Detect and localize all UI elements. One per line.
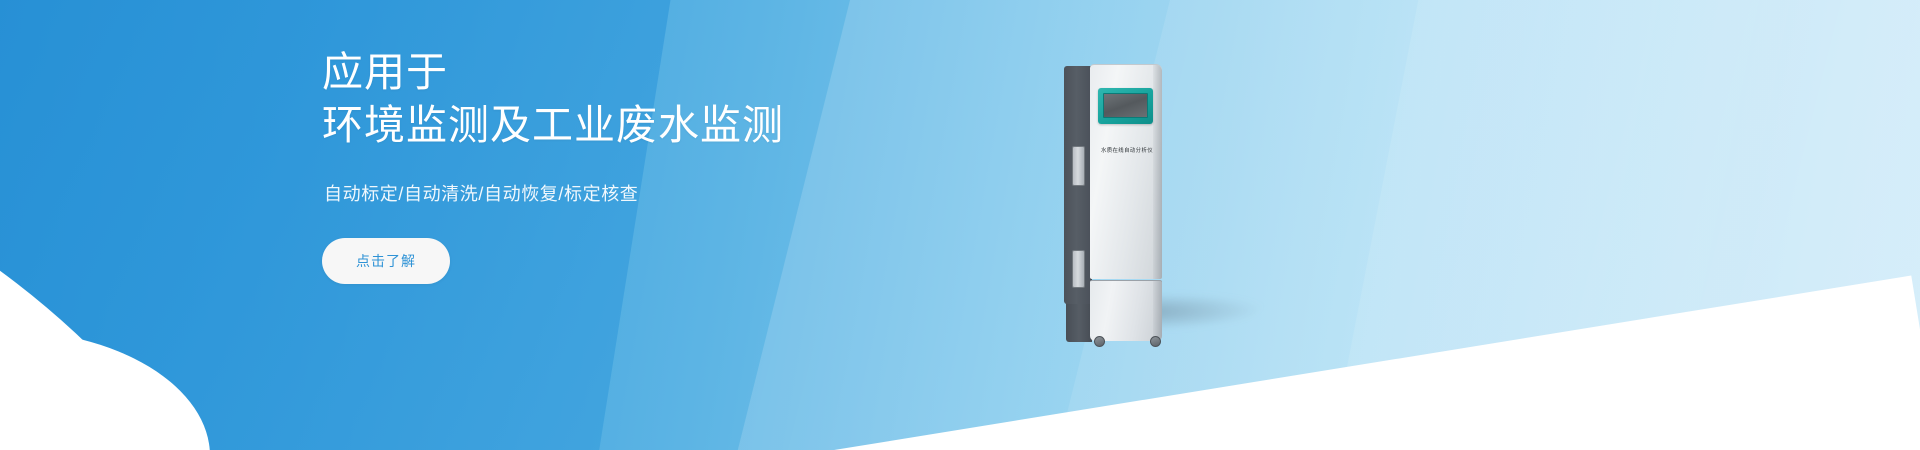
page-title: 应用于 环境监测及工业废水监测 — [322, 46, 1082, 152]
device-base-foot — [1066, 302, 1092, 342]
device-upper-handle — [1072, 146, 1085, 186]
device-display-screen — [1103, 93, 1148, 118]
promo-banner: 应用于 环境监测及工业废水监测 自动标定/自动清洗/自动恢复/标定核查 点击了解… — [0, 0, 1920, 450]
banner-content: 应用于 环境监测及工业废水监测 自动标定/自动清洗/自动恢复/标定核查 点击了解 — [322, 46, 1082, 284]
banner-subtitle: 自动标定/自动清洗/自动恢复/标定核查 — [324, 180, 1082, 206]
device-lower-handle — [1072, 250, 1085, 288]
product-image-water-analyzer: 水质在线自动分析仪 — [1052, 62, 1252, 332]
learn-more-button[interactable]: 点击了解 — [322, 238, 450, 284]
device-screen-bezel — [1098, 88, 1153, 124]
headline-line-1: 应用于 — [322, 49, 448, 95]
device-lower-cabinet — [1090, 280, 1162, 341]
headline-line-2: 环境监测及工业废水监测 — [322, 99, 1082, 152]
device-caster-right — [1150, 336, 1161, 347]
device-caster-left — [1094, 336, 1105, 347]
device-label-text: 水质在线自动分析仪 — [1094, 146, 1160, 154]
